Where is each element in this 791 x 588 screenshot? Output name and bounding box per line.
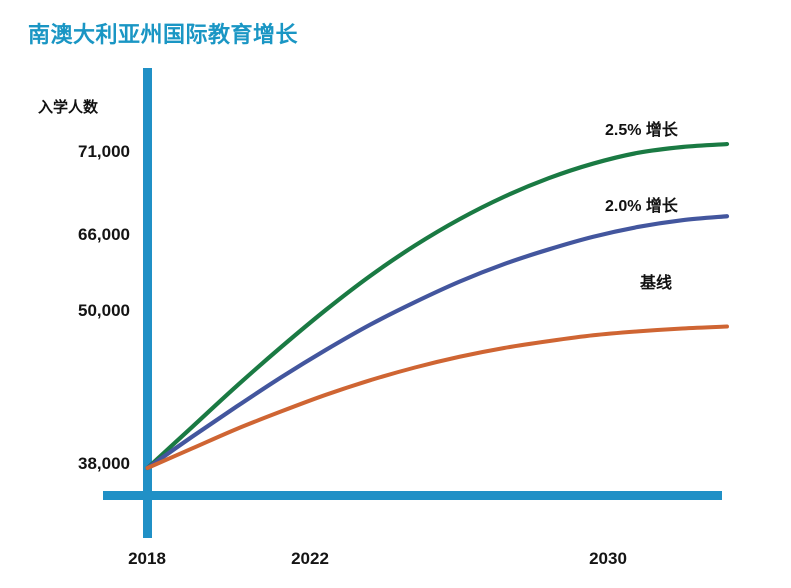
series-lines: [148, 144, 728, 468]
chart-container: 南澳大利亚州国际教育增长 入学人数 71,000 66,000 50,000 3…: [0, 0, 791, 588]
line-baseline: [148, 327, 728, 468]
plot-area: [0, 0, 791, 588]
line-growth-25: [148, 144, 728, 468]
